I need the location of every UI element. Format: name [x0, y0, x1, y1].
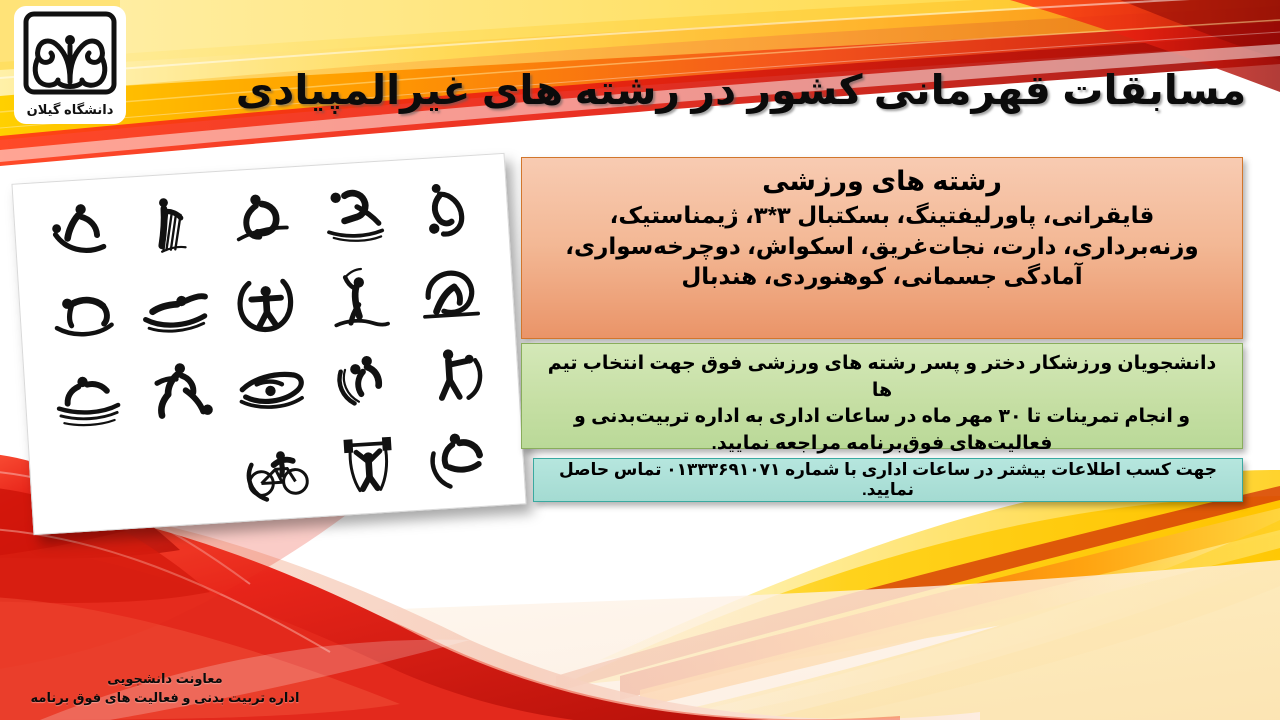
- disciplines-line-1: قایقرانی، پاورلیفتینگ، بسکتبال ۳*۳، ژیمن…: [536, 200, 1228, 231]
- university-logo: دانشگاه گیلان: [14, 6, 126, 124]
- pictogram-grid: [29, 165, 509, 523]
- poster-canvas: دانشگاه گیلان مسابقات قهرمانی کشور در رش…: [0, 0, 1280, 720]
- disciplines-heading: رشته های ورزشی: [536, 166, 1228, 198]
- notice-line-1: دانشجویان ورزشکار دختر و پسر رشته های ور…: [536, 351, 1228, 404]
- waterpolo-pictogram: [49, 357, 128, 436]
- contact-info-box: جهت کسب اطلاعات بیشتر در ساعات اداری با …: [533, 458, 1243, 502]
- shooting-pictogram: [416, 334, 495, 413]
- notice-line-2: و انجام تمرینات تا ۳۰ مهر ماه در ساعات ا…: [536, 404, 1228, 431]
- surfing-pictogram: [38, 193, 117, 272]
- diving-pictogram: [44, 275, 123, 354]
- footer-line-1: معاونت دانشجویی: [0, 670, 330, 689]
- weightlifting-pictogram: [329, 422, 408, 501]
- archery-pictogram: [130, 187, 209, 266]
- footer-credits: معاونت دانشجویی اداره تربیت بدنی و فعالی…: [0, 670, 330, 708]
- judo-pictogram: [421, 417, 500, 496]
- sports-disciplines-box: رشته های ورزشی قایقرانی، پاورلیفتینگ، بس…: [521, 157, 1243, 339]
- rowing-pictogram: [232, 346, 311, 425]
- cycling-pictogram: [238, 428, 317, 507]
- gymnastics-pictogram: [411, 252, 490, 331]
- registration-notice-box: دانشجویان ورزشکار دختر و پسر رشته های ور…: [521, 343, 1243, 449]
- handball-pictogram: [324, 340, 403, 419]
- soccer-pictogram: [406, 170, 485, 249]
- disciplines-line-3: آمادگی جسمانی، کوهنوردی، هندبال: [536, 261, 1228, 292]
- wrestling-pictogram: [222, 181, 301, 260]
- contact-text: جهت کسب اطلاعات بیشتر در ساعات اداری با …: [548, 460, 1228, 500]
- swimming-pictogram: [135, 269, 214, 348]
- running-pictogram: [141, 352, 220, 431]
- golf-pictogram: [319, 258, 398, 337]
- footer-line-2: اداره تربیت بدنی و فعالیت های فوق برنامه: [0, 689, 330, 708]
- fitness-pictogram: [227, 264, 306, 343]
- volleyball-pictogram: [314, 175, 393, 254]
- logo-caption: دانشگاه گیلان: [14, 102, 126, 118]
- page-title: مسابقات قهرمانی کشور در رشته های غیرالمپ…: [226, 66, 1256, 114]
- disciplines-line-2: وزنه‌برداری، دارت، نجات‌غریق، اسکواش، دو…: [536, 231, 1228, 262]
- sports-pictogram-card: [11, 153, 526, 535]
- notice-line-3: فعالیت‌های فوق‌برنامه مراجعه نمایید.: [536, 431, 1228, 458]
